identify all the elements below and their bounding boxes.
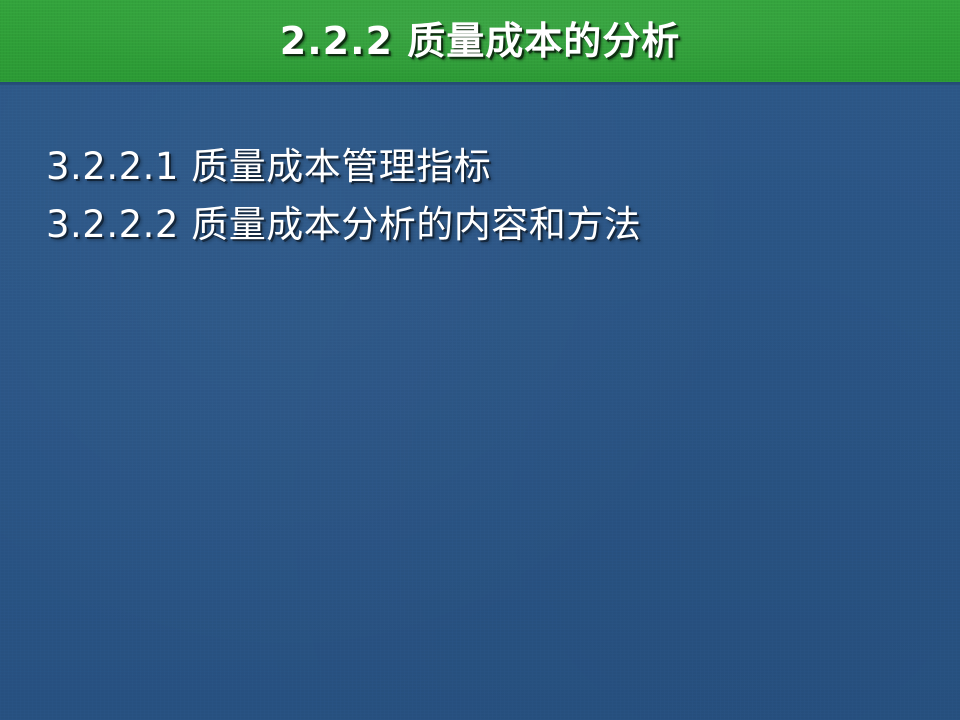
slide-title-band: 2.2.2 质量成本的分析 <box>0 0 960 82</box>
slide-background <box>0 0 960 720</box>
slide-content-body: 3.2.2.1 质量成本管理指标 3.2.2.2 质量成本分析的内容和方法 <box>46 138 906 254</box>
content-line-1: 3.2.2.1 质量成本管理指标 <box>46 138 906 196</box>
presentation-slide: 2.2.2 质量成本的分析 3.2.2.1 质量成本管理指标 3.2.2.2 质… <box>0 0 960 720</box>
title-band-divider <box>0 82 960 85</box>
content-line-2: 3.2.2.2 质量成本分析的内容和方法 <box>46 196 906 254</box>
slide-title: 2.2.2 质量成本的分析 <box>280 22 680 60</box>
